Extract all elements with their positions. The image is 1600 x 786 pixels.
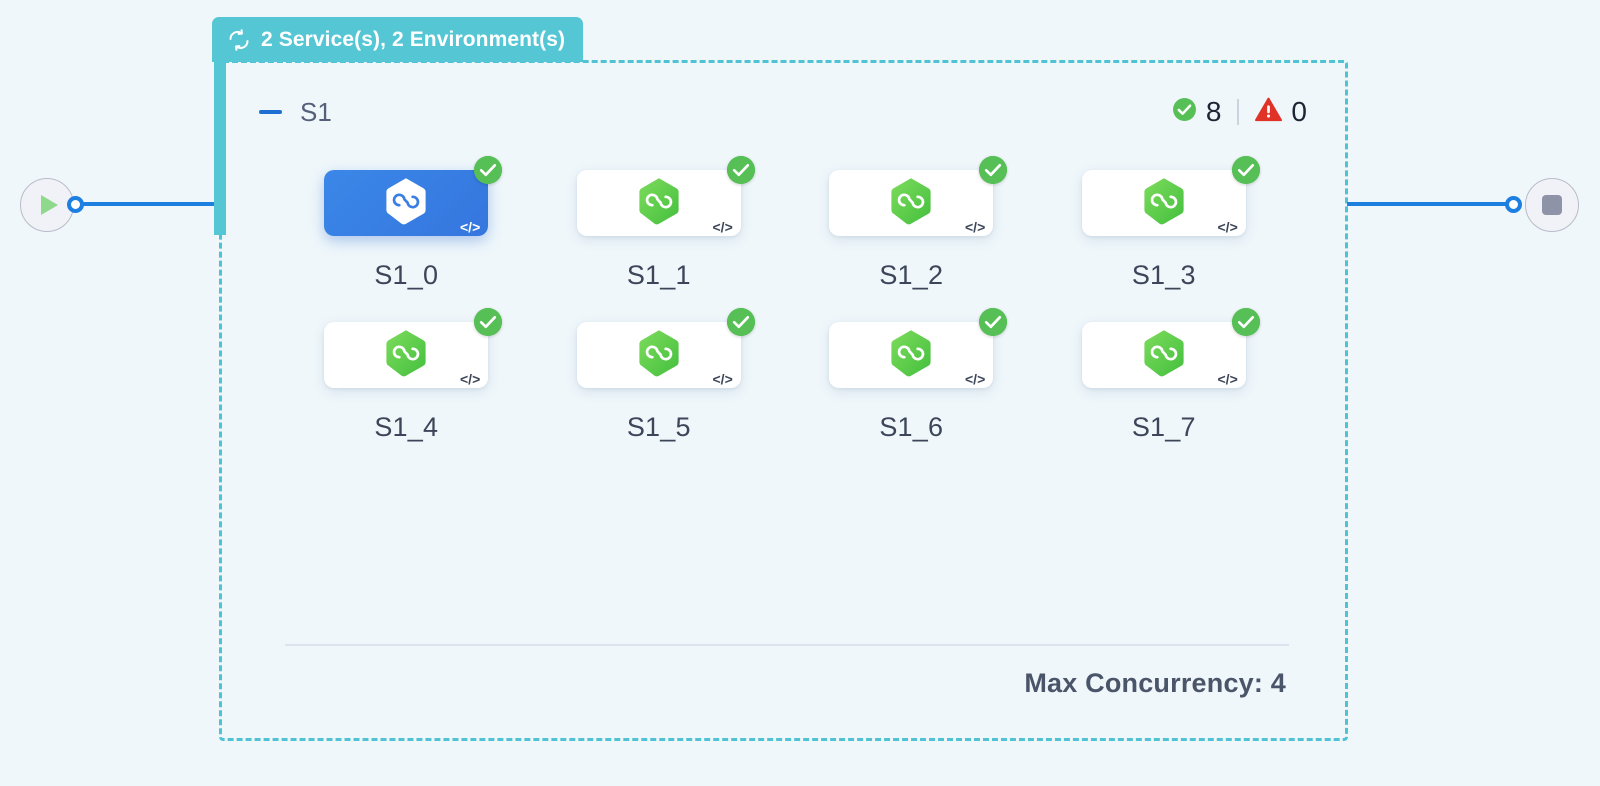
group-tab-label: 2 Service(s), 2 Environment(s) (261, 28, 565, 52)
connection-wire-left (80, 202, 226, 206)
service-node-label: S1_5 (627, 412, 691, 443)
node-cell: </>S1_4 (280, 322, 533, 443)
check-badge-icon (727, 308, 755, 336)
group-name-label: S1 (300, 97, 332, 128)
workflow-canvas[interactable]: 2 Service(s), 2 Environment(s) S1 8 (0, 0, 1600, 786)
node-cell: </>S1_5 (533, 322, 786, 443)
service-node-label: S1_0 (374, 260, 438, 291)
node-row: </>S1_0 </>S1_1 </>S1_2 (280, 170, 1290, 291)
service-icon (1141, 328, 1187, 383)
hexagon-loop-icon (383, 176, 429, 226)
hexagon-loop-icon (888, 328, 934, 378)
play-icon (41, 195, 58, 215)
check-badge-icon (1232, 156, 1260, 184)
node-cell: </>S1_1 (533, 170, 786, 291)
stat-divider (1237, 99, 1239, 125)
service-node-s1_1[interactable]: </> (577, 170, 741, 236)
node-cell: </>S1_6 (785, 322, 1038, 443)
error-stat: 0 (1255, 97, 1307, 127)
service-node-grid: </>S1_0 </>S1_1 </>S1_2 (280, 170, 1290, 474)
service-icon (636, 328, 682, 383)
service-icon (383, 176, 429, 231)
service-icon (888, 328, 934, 383)
check-badge-icon (474, 308, 502, 336)
service-icon (383, 328, 429, 383)
check-badge-icon (1232, 308, 1260, 336)
error-count: 0 (1291, 98, 1307, 126)
service-node-s1_5[interactable]: </> (577, 322, 741, 388)
end-node[interactable] (1525, 178, 1579, 232)
service-node-s1_7[interactable]: </> (1082, 322, 1246, 388)
hexagon-loop-icon (1141, 328, 1187, 378)
service-icon (1141, 176, 1187, 231)
success-stat: 8 (1172, 97, 1222, 127)
service-icon (636, 176, 682, 231)
service-node-s1_6[interactable]: </> (829, 322, 993, 388)
end-input-port[interactable] (1505, 196, 1522, 213)
code-icon[interactable]: </> (713, 372, 733, 386)
sync-icon (227, 28, 251, 52)
group-footer-divider (285, 644, 1289, 646)
code-icon[interactable]: </> (1218, 220, 1238, 234)
group-header: S1 8 (259, 92, 1307, 132)
node-row: </>S1_4 </>S1_5 </>S1_6 (280, 322, 1290, 443)
service-node-label: S1_3 (1132, 260, 1196, 291)
service-node-label: S1_1 (627, 260, 691, 291)
warning-triangle-icon (1255, 97, 1282, 127)
code-icon[interactable]: </> (713, 220, 733, 234)
connection-wire-right (1347, 202, 1509, 206)
code-icon[interactable]: </> (460, 220, 480, 234)
hexagon-loop-icon (636, 176, 682, 226)
stop-icon (1542, 195, 1562, 215)
code-icon[interactable]: </> (965, 372, 985, 386)
start-output-port[interactable] (67, 196, 84, 213)
hexagon-loop-icon (888, 176, 934, 226)
group-status-summary: 8 0 (1172, 97, 1307, 127)
collapse-icon[interactable] (259, 110, 282, 114)
service-node-label: S1_2 (879, 260, 943, 291)
service-node-s1_2[interactable]: </> (829, 170, 993, 236)
check-badge-icon (474, 156, 502, 184)
node-cell: </>S1_3 (1038, 170, 1291, 291)
hexagon-loop-icon (383, 328, 429, 378)
success-count: 8 (1206, 98, 1222, 126)
service-node-label: S1_7 (1132, 412, 1196, 443)
max-concurrency-label: Max Concurrency: 4 (1024, 668, 1286, 699)
group-tab[interactable]: 2 Service(s), 2 Environment(s) (212, 17, 583, 62)
node-cell: </>S1_0 (280, 170, 533, 291)
service-icon (888, 176, 934, 231)
check-circle-icon (1172, 97, 1197, 127)
service-node-s1_4[interactable]: </> (324, 322, 488, 388)
code-icon[interactable]: </> (460, 372, 480, 386)
service-node-label: S1_4 (374, 412, 438, 443)
code-icon[interactable]: </> (965, 220, 985, 234)
service-node-s1_3[interactable]: </> (1082, 170, 1246, 236)
check-badge-icon (979, 156, 1007, 184)
node-cell: </>S1_2 (785, 170, 1038, 291)
node-cell: </>S1_7 (1038, 322, 1291, 443)
hexagon-loop-icon (1141, 176, 1187, 226)
check-badge-icon (979, 308, 1007, 336)
service-node-s1_0[interactable]: </> (324, 170, 488, 236)
code-icon[interactable]: </> (1218, 372, 1238, 386)
group-header-left: S1 (259, 97, 332, 128)
check-badge-icon (727, 156, 755, 184)
start-node[interactable] (20, 178, 74, 232)
hexagon-loop-icon (636, 328, 682, 378)
service-node-label: S1_6 (879, 412, 943, 443)
